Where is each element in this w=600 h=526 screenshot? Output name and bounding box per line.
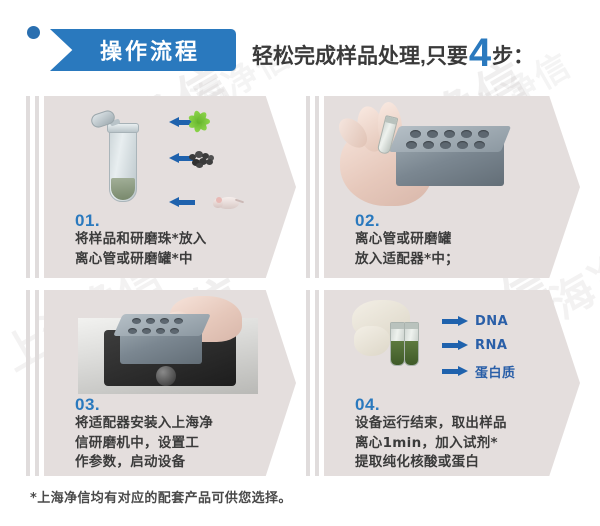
step-card-4-body: DNA RNA 蛋白质 04. 设备运行结束，取出样品 离心1min，加入试剂*… xyxy=(324,290,580,476)
adapter-hole xyxy=(427,130,438,138)
header: 操作流程 轻松完成样品处理,只要4步： xyxy=(0,0,600,88)
card-bar xyxy=(26,290,30,476)
adapter-hole xyxy=(444,130,455,138)
adapter-hole xyxy=(461,130,472,138)
arrow-left-icon xyxy=(169,198,195,206)
step-description-line: 提取纯化核酸或蛋白 xyxy=(355,453,507,473)
step-description-1: 将样品和研磨珠*放入 离心管或研磨罐*中 xyxy=(75,230,207,269)
step-card-3-body: 03. 将适配器安装入上海净 信研磨机中，设置工 作参数，启动设备 xyxy=(44,290,296,476)
section-tag: 操作流程 xyxy=(50,29,236,71)
arrow-right-icon xyxy=(442,341,468,350)
arrow-right-icon xyxy=(442,367,468,376)
step-number-4: 04. xyxy=(355,395,380,415)
adapter-hole xyxy=(160,318,169,324)
step-description-line: 将样品和研磨珠*放入 xyxy=(75,230,207,250)
step-card-3: 03. 将适配器安装入上海净 信研磨机中，设置工 作参数，启动设备 xyxy=(26,290,296,476)
adapter-hole xyxy=(174,318,183,324)
output-row-protein: 蛋白质 xyxy=(442,362,516,381)
adapter-in-hand-photo xyxy=(334,100,519,208)
step-card-4: DNA RNA 蛋白质 04. 设备运行结束，取出样品 离心1min，加入试剂*… xyxy=(306,290,580,476)
step-card-2: 02. 离心管或研磨罐 放入适配器*中； xyxy=(306,96,580,278)
output-row-rna: RNA xyxy=(442,338,507,353)
card-left-bars xyxy=(26,96,40,278)
step-card-1-body: 01. 将样品和研磨珠*放入 离心管或研磨罐*中 xyxy=(44,96,296,278)
output-label-dna: DNA xyxy=(475,314,508,329)
step-description-line: 离心管或研磨罐*中 xyxy=(75,250,207,270)
card-bar xyxy=(315,290,319,476)
step-card-2-body: 02. 离心管或研磨罐 放入适配器*中； xyxy=(324,96,580,278)
adapter-hole xyxy=(156,328,165,334)
card-bar xyxy=(35,96,39,278)
output-label-protein: 蛋白质 xyxy=(475,362,516,381)
adapter-hole xyxy=(406,141,417,149)
grinding-beads-icon xyxy=(185,145,219,171)
adapter-hole xyxy=(440,141,451,149)
adapter-hole xyxy=(132,318,141,324)
mouse-icon xyxy=(211,189,245,215)
adapter-hole xyxy=(410,130,421,138)
step-card-1: 01. 将样品和研磨珠*放入 离心管或研磨罐*中 xyxy=(26,96,296,278)
adapter-hole xyxy=(146,318,155,324)
step-description-line: 作参数，启动设备 xyxy=(75,453,213,473)
sample-row-mouse xyxy=(169,189,245,215)
card-bar xyxy=(306,290,310,476)
step-description-line: 信研磨机中，设置工 xyxy=(75,434,213,454)
step-description-line: 将适配器安装入上海净 xyxy=(75,414,213,434)
tube-body xyxy=(109,128,137,202)
adapter-hole xyxy=(142,328,151,334)
header-subtitle-part2: 步： xyxy=(492,40,534,70)
output-label-rna: RNA xyxy=(475,338,507,353)
card-left-bars xyxy=(26,290,40,476)
tube-liquid xyxy=(111,178,135,200)
step-description-4: 设备运行结束，取出样品 离心1min，加入试剂* 提取纯化核酸或蛋白 xyxy=(355,414,507,473)
step-description-line: 离心1min，加入试剂* xyxy=(355,434,507,454)
gloved-finger xyxy=(354,326,390,356)
step-description-2: 离心管或研磨罐 放入适配器*中； xyxy=(355,230,459,269)
output-row-dna: DNA xyxy=(442,314,508,329)
footnote: *上海净信均有对应的配套产品可供您选择。 xyxy=(30,487,292,506)
header-step-count: 4 xyxy=(469,33,491,73)
step-number-3: 03. xyxy=(75,395,100,415)
card-bar xyxy=(35,290,39,476)
card-left-bars xyxy=(306,290,320,476)
step-number-2: 02. xyxy=(355,211,380,231)
adapter-hole xyxy=(128,328,137,334)
centrifuge-tube-icon xyxy=(89,110,159,205)
step-description-line: 设备运行结束，取出样品 xyxy=(355,414,507,434)
card-bar xyxy=(315,96,319,278)
sample-row-beads xyxy=(169,154,195,162)
adapter-hole xyxy=(170,328,179,334)
adapter-hole xyxy=(478,130,489,138)
vials-in-gloved-hand-photo xyxy=(352,298,452,378)
card-left-bars xyxy=(306,96,320,278)
step-description-line: 放入适配器*中； xyxy=(355,250,459,270)
adapter-hole xyxy=(474,141,485,149)
sample-vial xyxy=(404,322,419,366)
grinder-knob xyxy=(156,366,176,386)
decorative-dot xyxy=(27,26,40,39)
arrow-right-icon xyxy=(442,317,468,326)
step-description-3: 将适配器安装入上海净 信研磨机中，设置工 作参数，启动设备 xyxy=(75,414,213,473)
adapter-hole xyxy=(457,141,468,149)
grinder-installation-photo xyxy=(78,296,258,394)
header-subtitle-part1: 轻松完成样品处理,只要 xyxy=(252,40,468,70)
step-description-line: 离心管或研磨罐 xyxy=(355,230,459,250)
sample-vial xyxy=(390,322,405,366)
card-bar xyxy=(26,96,30,278)
card-bar xyxy=(306,96,310,278)
header-subtitle: 轻松完成样品处理,只要4步： xyxy=(252,30,534,72)
leaf-icon xyxy=(185,109,219,135)
adapter-hole xyxy=(423,141,434,149)
sample-row-leaf xyxy=(169,118,195,126)
infographic-page: 上海净信 上海净信 上海净信 上海净信 上海净信 上海净信 上海净信 上海净信 … xyxy=(0,0,600,526)
section-tag-label: 操作流程 xyxy=(50,29,236,71)
step-number-1: 01. xyxy=(75,211,100,231)
